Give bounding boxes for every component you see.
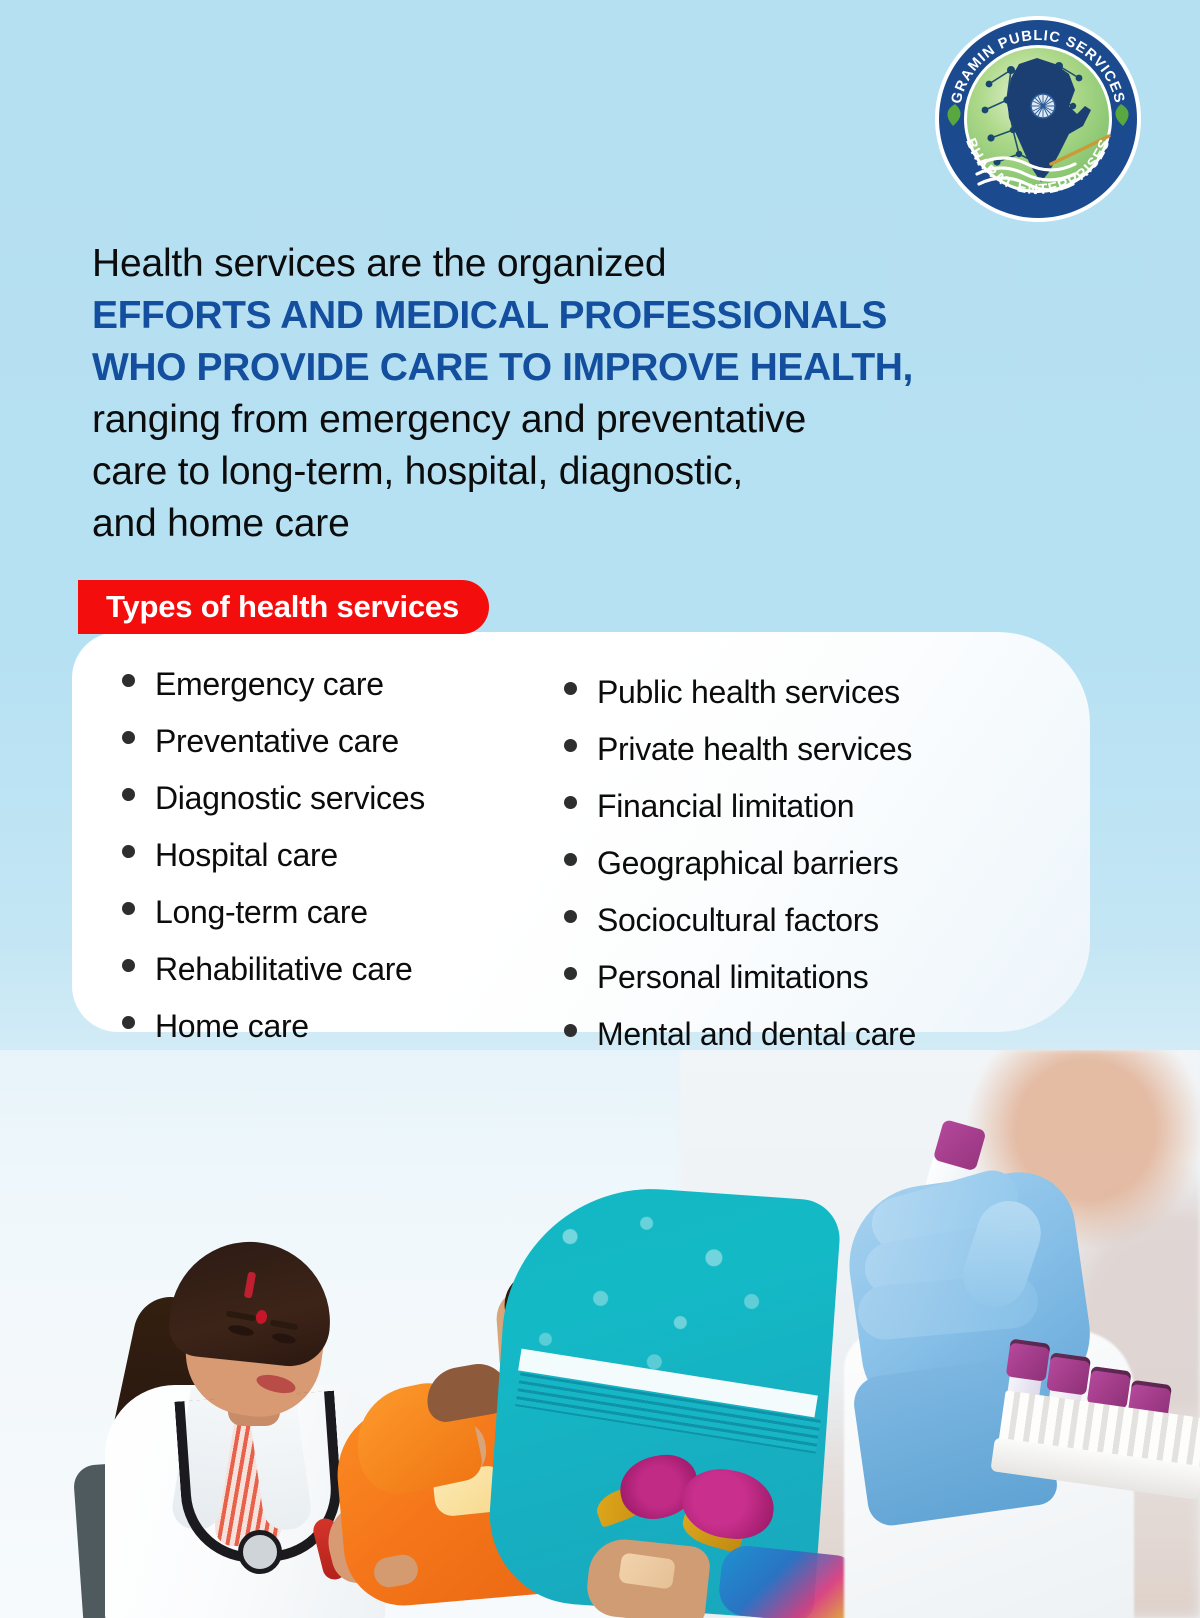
bullet-icon	[564, 739, 577, 752]
headline-line-6: and home care	[92, 498, 1052, 550]
list-item: Mental and dental care	[564, 1010, 1084, 1059]
hero-photo	[0, 1050, 1200, 1618]
list-item-label: Preventative care	[155, 717, 399, 766]
list-item: Home care	[122, 1002, 542, 1051]
logo-emblem-svg: GRAMIN PUBLIC SERVICES BHARAT ENTERPRISE…	[933, 14, 1143, 224]
stethoscope-bell-icon	[238, 1530, 282, 1574]
headline-line-1: Health services are the organized	[92, 238, 1052, 290]
services-right-column: Public health services Private health se…	[542, 660, 1084, 1032]
bullet-icon	[122, 788, 135, 801]
bullet-icon	[564, 910, 577, 923]
services-left-column: Emergency care Preventative care Diagnos…	[72, 660, 542, 1032]
tube-cap-icon	[1006, 1339, 1051, 1382]
list-item: Public health services	[564, 668, 1084, 717]
bullet-icon	[564, 682, 577, 695]
list-item: Preventative care	[122, 717, 542, 766]
headline-line-5: care to long-term, hospital, diagnostic,	[92, 446, 1052, 498]
list-item-label: Rehabilitative care	[155, 945, 413, 994]
list-item-label: Mental and dental care	[597, 1010, 916, 1059]
list-item-label: Financial limitation	[597, 782, 854, 831]
bullet-icon	[122, 902, 135, 915]
list-item: Emergency care	[122, 660, 542, 709]
headline-line-3: WHO PROVIDE CARE TO IMPROVE HEALTH,	[92, 342, 1052, 394]
doctor-hair	[166, 1234, 338, 1370]
brand-logo: GRAMIN PUBLIC SERVICES BHARAT ENTERPRISE…	[933, 14, 1143, 224]
section-banner-label: Types of health services	[106, 589, 459, 625]
list-item-label: Hospital care	[155, 831, 338, 880]
bullet-icon	[564, 967, 577, 980]
bullet-icon	[122, 674, 135, 687]
services-card: Emergency care Preventative care Diagnos…	[72, 632, 1090, 1032]
list-item-label: Personal limitations	[597, 953, 868, 1002]
headline-block: Health services are the organized EFFORT…	[92, 238, 1052, 550]
bullet-icon	[564, 796, 577, 809]
list-item-label: Home care	[155, 1002, 309, 1051]
list-item: Personal limitations	[564, 953, 1084, 1002]
tube-cap-icon	[1046, 1352, 1091, 1395]
section-banner: Types of health services	[78, 580, 489, 634]
chakra-spokes	[1032, 95, 1054, 117]
list-item: Geographical barriers	[564, 839, 1084, 888]
list-item-label: Public health services	[597, 668, 900, 717]
bullet-icon	[122, 845, 135, 858]
list-item-label: Long-term care	[155, 888, 368, 937]
list-item: Long-term care	[122, 888, 542, 937]
bullet-icon	[564, 853, 577, 866]
test-tube-rack	[984, 1334, 1200, 1541]
bullet-icon	[564, 1024, 577, 1037]
bullet-icon	[122, 731, 135, 744]
list-item-label: Sociocultural factors	[597, 896, 879, 945]
bullet-icon	[122, 959, 135, 972]
list-item-label: Emergency care	[155, 660, 384, 709]
lab-technician-figure	[820, 1080, 1200, 1600]
bullet-icon	[122, 1016, 135, 1029]
list-item-label: Geographical barriers	[597, 839, 898, 888]
headline-line-4: ranging from emergency and preventative	[92, 394, 1052, 446]
list-item: Hospital care	[122, 831, 542, 880]
list-item: Financial limitation	[564, 782, 1084, 831]
list-item: Diagnostic services	[122, 774, 542, 823]
list-item-label: Private health services	[597, 725, 912, 774]
list-item: Private health services	[564, 725, 1084, 774]
list-item: Rehabilitative care	[122, 945, 542, 994]
list-item-label: Diagnostic services	[155, 774, 425, 823]
headline-line-2: EFFORTS AND MEDICAL PROFESSIONALS	[92, 290, 1052, 342]
list-item: Sociocultural factors	[564, 896, 1084, 945]
infographic-page: GRAMIN PUBLIC SERVICES BHARAT ENTERPRISE…	[0, 0, 1200, 1618]
